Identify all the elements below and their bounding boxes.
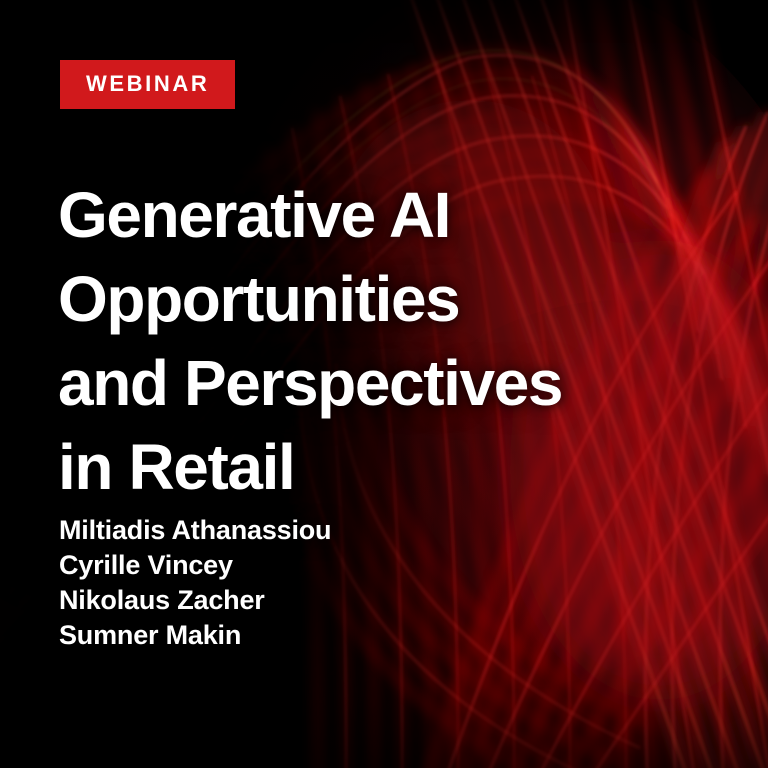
speaker-name: Sumner Makin [59,618,679,653]
speaker-name: Nikolaus Zacher [59,583,679,618]
title-line-2: Opportunities [58,257,718,341]
title-line-1: Generative AI [58,173,718,257]
speaker-name: Cyrille Vincey [59,548,679,583]
title-line-4: in Retail [58,425,718,509]
speaker-list: Miltiadis Athanassiou Cyrille Vincey Nik… [59,513,679,653]
webinar-badge-label: WEBINAR [86,71,209,96]
title-line-3: and Perspectives [58,341,718,425]
webinar-badge: WEBINAR [60,60,235,109]
speaker-name: Miltiadis Athanassiou [59,513,679,548]
card-content: WEBINAR Generative AI Opportunities and … [0,0,768,768]
webinar-promo-card: WEBINAR Generative AI Opportunities and … [0,0,768,768]
page-title: Generative AI Opportunities and Perspect… [58,173,718,509]
